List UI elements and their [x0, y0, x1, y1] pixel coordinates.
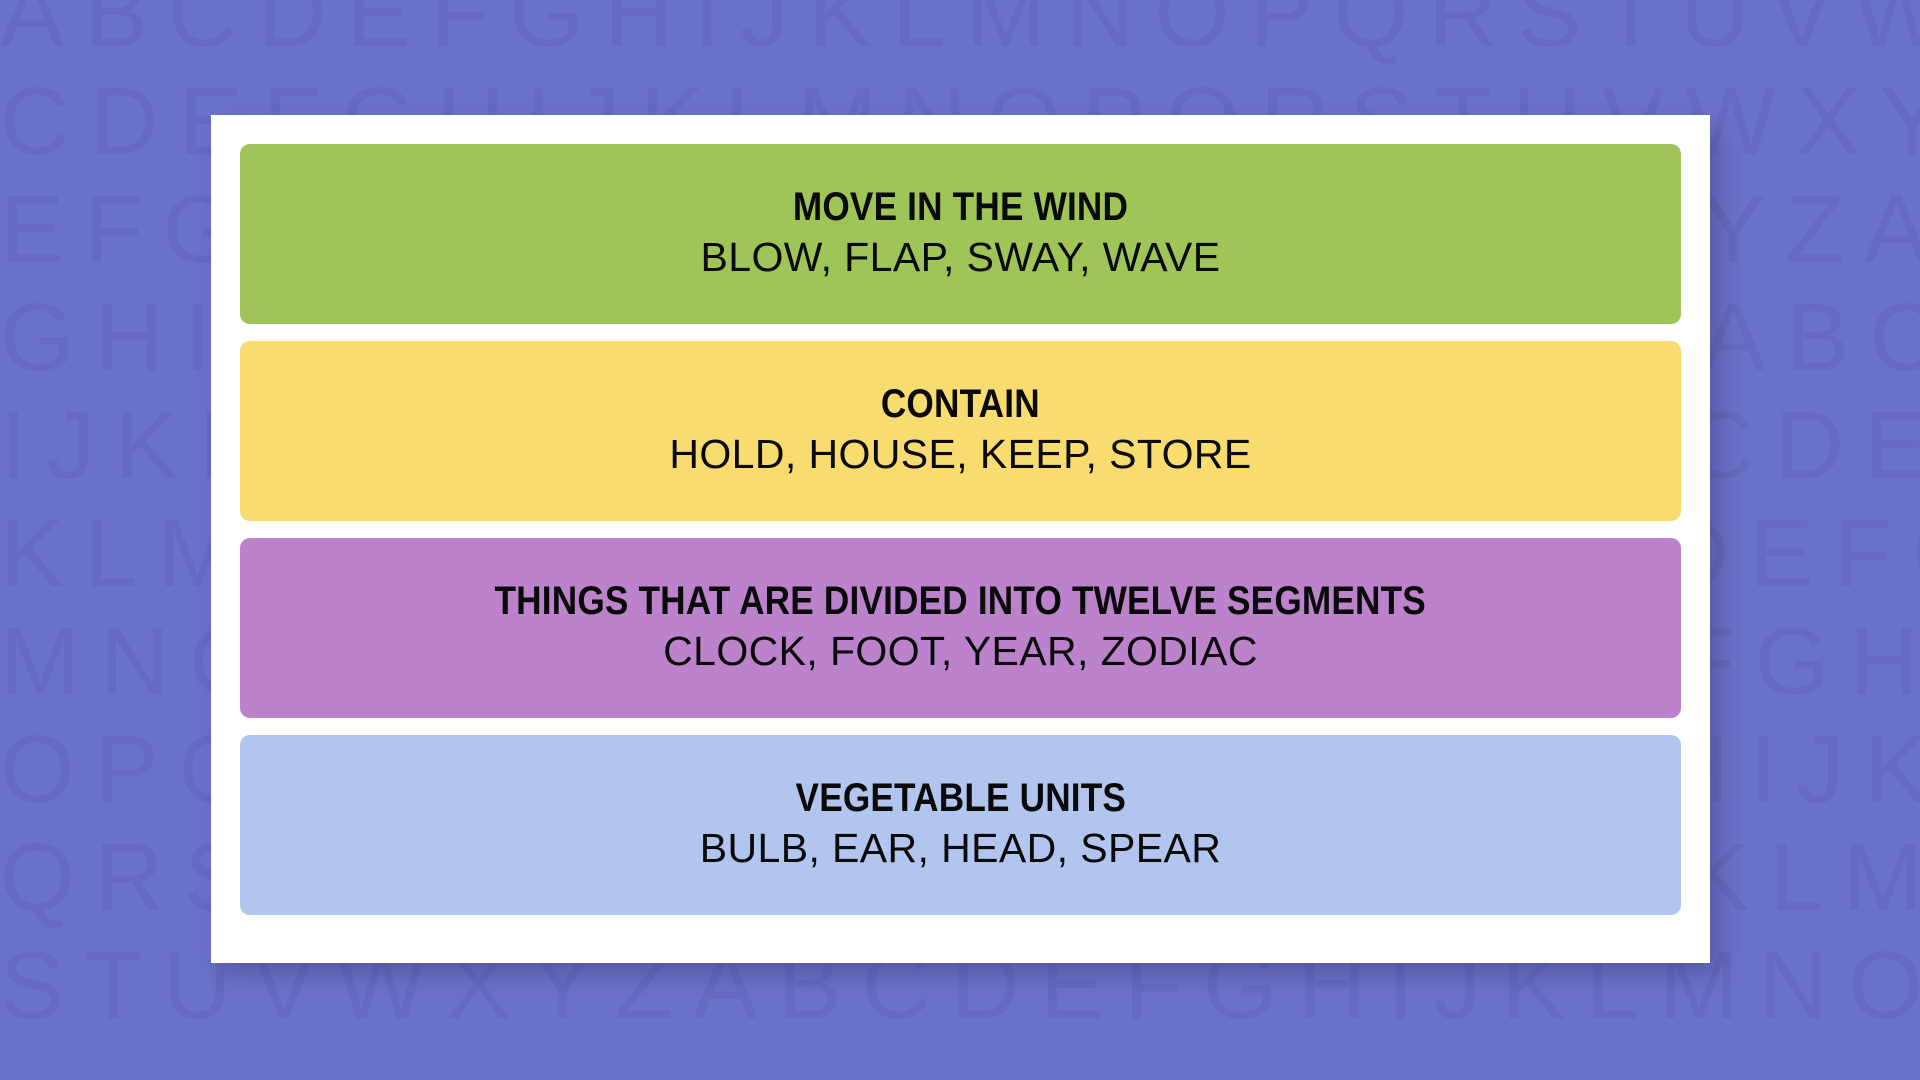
category-words: CLOCK, FOOT, YEAR, ZODIAC — [663, 628, 1258, 675]
category-band-green[interactable]: MOVE IN THE WIND BLOW, FLAP, SWAY, WAVE — [240, 144, 1681, 324]
solution-card: MOVE IN THE WIND BLOW, FLAP, SWAY, WAVE … — [211, 115, 1710, 963]
category-band-purple[interactable]: THINGS THAT ARE DIVIDED INTO TWELVE SEGM… — [240, 538, 1681, 718]
category-title: THINGS THAT ARE DIVIDED INTO TWELVE SEGM… — [495, 580, 1426, 622]
category-title: VEGETABLE UNITS — [795, 777, 1126, 819]
category-words: BLOW, FLAP, SWAY, WAVE — [701, 234, 1221, 281]
category-band-blue[interactable]: VEGETABLE UNITS BULB, EAR, HEAD, SPEAR — [240, 735, 1681, 915]
background-letter-row: ABCDEFGHIJKLMNOPQRSTUVWXYZ — [0, 0, 1920, 62]
category-words: HOLD, HOUSE, KEEP, STORE — [669, 431, 1251, 478]
category-words: BULB, EAR, HEAD, SPEAR — [700, 825, 1221, 872]
category-band-yellow[interactable]: CONTAIN HOLD, HOUSE, KEEP, STORE — [240, 341, 1681, 521]
category-title: MOVE IN THE WIND — [793, 186, 1128, 228]
category-title: CONTAIN — [881, 383, 1040, 425]
